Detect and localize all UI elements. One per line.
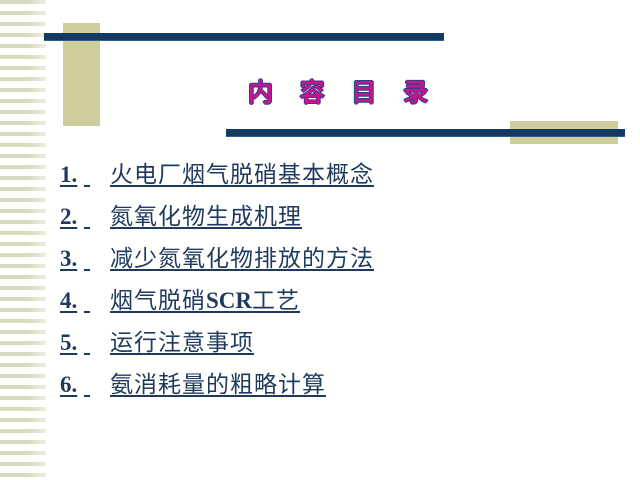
list-item-number: 2. — [60, 202, 84, 232]
list-item-number: 4. — [60, 286, 84, 316]
list-item[interactable]: 1. 火电厂烟气脱硝基本概念 — [60, 160, 580, 202]
list-item-number: 3. — [60, 244, 84, 274]
list-item-label: 减少氮氧化物排放的方法 — [110, 244, 374, 274]
list-item[interactable]: 2. 氮氧化物生成机理 — [60, 202, 580, 244]
list-item-label: 火电厂烟气脱硝基本概念 — [110, 160, 374, 190]
list-item-spacer — [84, 370, 110, 400]
list-item[interactable]: 4. 烟气脱硝SCR工艺 — [60, 286, 580, 328]
list-item-spacer — [84, 328, 110, 358]
list-item-number: 6. — [60, 370, 84, 400]
list-item[interactable]: 3. 减少氮氧化物排放的方法 — [60, 244, 580, 286]
presentation-slide: 内 容 目 录 1. 火电厂烟气脱硝基本概念 2. 氮氧化物生成机理 3. 减少… — [0, 0, 640, 480]
list-item-number: 5. — [60, 328, 84, 358]
table-of-contents-list: 1. 火电厂烟气脱硝基本概念 2. 氮氧化物生成机理 3. 减少氮氧化物排放的方… — [60, 160, 580, 412]
list-item-label: 氮氧化物生成机理 — [110, 202, 302, 232]
list-item-spacer — [84, 286, 110, 316]
list-item-spacer — [84, 202, 110, 232]
striped-band-fade-overlay — [0, 0, 46, 480]
list-item-label: 烟气脱硝SCR工艺 — [110, 286, 300, 316]
list-item-spacer — [84, 160, 110, 190]
list-item-spacer — [84, 244, 110, 274]
navy-rule-top — [44, 33, 444, 40]
list-item[interactable]: 5. 运行注意事项 — [60, 328, 580, 370]
list-item[interactable]: 6. 氨消耗量的粗略计算 — [60, 370, 580, 412]
list-item-number: 1. — [60, 160, 84, 190]
navy-rule-middle — [226, 129, 625, 136]
list-item-label: 氨消耗量的粗略计算 — [110, 370, 326, 400]
page-title: 内 容 目 录 — [248, 80, 548, 105]
list-item-label: 运行注意事项 — [110, 328, 254, 358]
